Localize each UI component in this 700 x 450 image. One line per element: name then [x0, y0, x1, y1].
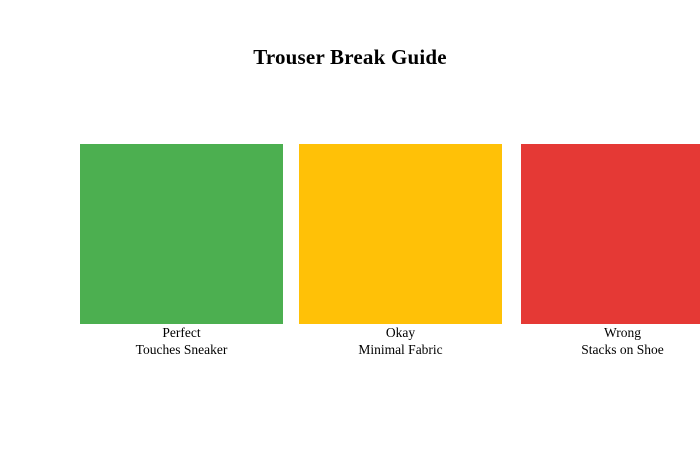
swatch-caption-perfect: Perfect Touches Sneaker [80, 324, 283, 358]
swatch-description-wrong: Stacks on Shoe [521, 341, 700, 358]
swatch-item-okay: Okay Minimal Fabric [299, 144, 502, 358]
swatch-caption-okay: Okay Minimal Fabric [299, 324, 502, 358]
swatch-caption-wrong: Wrong Stacks on Shoe [521, 324, 700, 358]
trouser-break-guide-figure: Trouser Break Guide Perfect Touches Snea… [0, 0, 700, 450]
swatch-item-perfect: Perfect Touches Sneaker [80, 144, 283, 358]
swatch-item-wrong: Wrong Stacks on Shoe [521, 144, 700, 358]
swatch-color-block-perfect [80, 144, 283, 324]
swatch-label-okay: Okay [299, 325, 502, 341]
swatch-color-block-okay [299, 144, 502, 324]
swatch-color-block-wrong [521, 144, 700, 324]
swatch-description-perfect: Touches Sneaker [80, 341, 283, 358]
page-title: Trouser Break Guide [0, 44, 700, 70]
swatch-label-wrong: Wrong [521, 325, 700, 341]
swatch-label-perfect: Perfect [80, 325, 283, 341]
swatch-description-okay: Minimal Fabric [299, 341, 502, 358]
swatch-row: Perfect Touches Sneaker Okay Minimal Fab… [80, 144, 700, 374]
